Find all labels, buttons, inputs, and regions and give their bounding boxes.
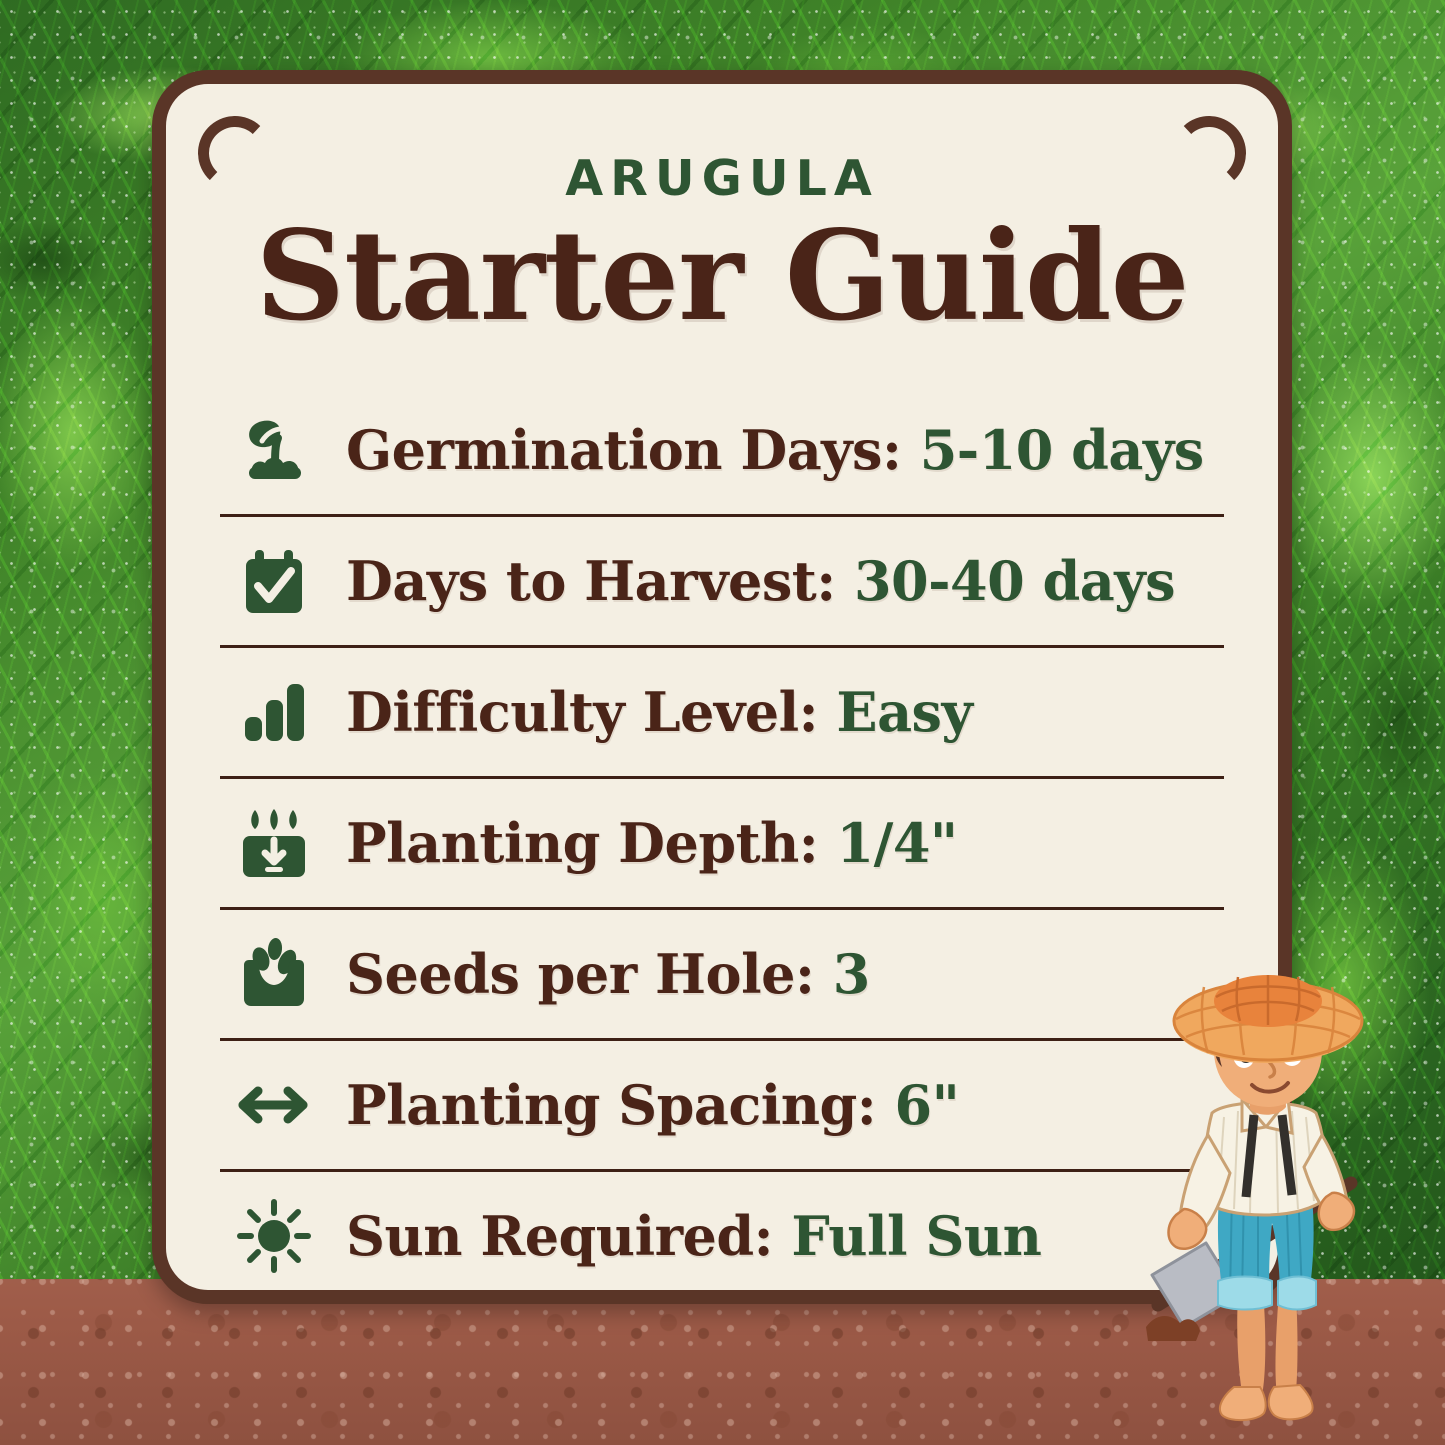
list-item: Days to Harvest: 30-40 days: [218, 517, 1226, 645]
card-header: ARUGULA Starter Guide: [166, 84, 1278, 342]
seeds-in-hole-icon: [232, 932, 316, 1016]
list-item-label: Planting Depth:: [346, 811, 837, 875]
starter-guide-card: ARUGULA Starter Guide Germination Days: …: [152, 70, 1292, 1304]
sun-icon: [232, 1194, 316, 1278]
page-title: Starter Guide: [166, 213, 1278, 342]
list-item-text: Planting Spacing: 6": [346, 1073, 959, 1137]
list-item: Germination Days: 5-10 days: [218, 386, 1226, 514]
list-item-text: Seeds per Hole: 3: [346, 942, 870, 1006]
list-item-label: Days to Harvest:: [346, 549, 854, 613]
list-item-value: 3: [833, 942, 870, 1006]
sprout-icon: [232, 408, 316, 492]
list-item-value: 1/4": [837, 811, 958, 875]
list-item-value: Easy: [836, 680, 972, 744]
plant-name-label: ARUGULA: [166, 150, 1278, 207]
list-item-text: Difficulty Level: Easy: [346, 680, 972, 744]
list-item-value: 6": [895, 1073, 960, 1137]
list-item-label: Germination Days:: [346, 418, 920, 482]
gardener-boy-illustration: [1146, 975, 1445, 1445]
infographic-stage: ARUGULA Starter Guide Germination Days: …: [0, 0, 1445, 1445]
list-item: Difficulty Level: Easy: [218, 648, 1226, 776]
list-item: Planting Depth: 1/4": [218, 779, 1226, 907]
list-item-label: Seeds per Hole:: [346, 942, 833, 1006]
list-item-value: 5-10 days: [920, 418, 1204, 482]
list-item: Planting Spacing: 6": [218, 1041, 1226, 1169]
bar-chart-icon: [232, 670, 316, 754]
list-item-value: Full Sun: [791, 1204, 1041, 1268]
planting-depth-icon: [232, 801, 316, 885]
facts-list: Germination Days: 5-10 days Days to Harv…: [218, 386, 1226, 1300]
list-item: Seeds per Hole: 3: [218, 910, 1226, 1038]
calendar-check-icon: [232, 539, 316, 623]
horizontal-arrow-icon: [232, 1063, 316, 1147]
list-item-text: Days to Harvest: 30-40 days: [346, 549, 1175, 613]
list-item-label: Planting Spacing:: [346, 1073, 895, 1137]
list-item-text: Germination Days: 5-10 days: [346, 418, 1204, 482]
list-item: Sun Required: Full Sun: [218, 1172, 1226, 1300]
list-item-label: Sun Required:: [346, 1204, 791, 1268]
list-item-label: Difficulty Level:: [346, 680, 836, 744]
list-item-text: Sun Required: Full Sun: [346, 1204, 1041, 1268]
list-item-text: Planting Depth: 1/4": [346, 811, 958, 875]
list-item-value: 30-40 days: [854, 549, 1175, 613]
